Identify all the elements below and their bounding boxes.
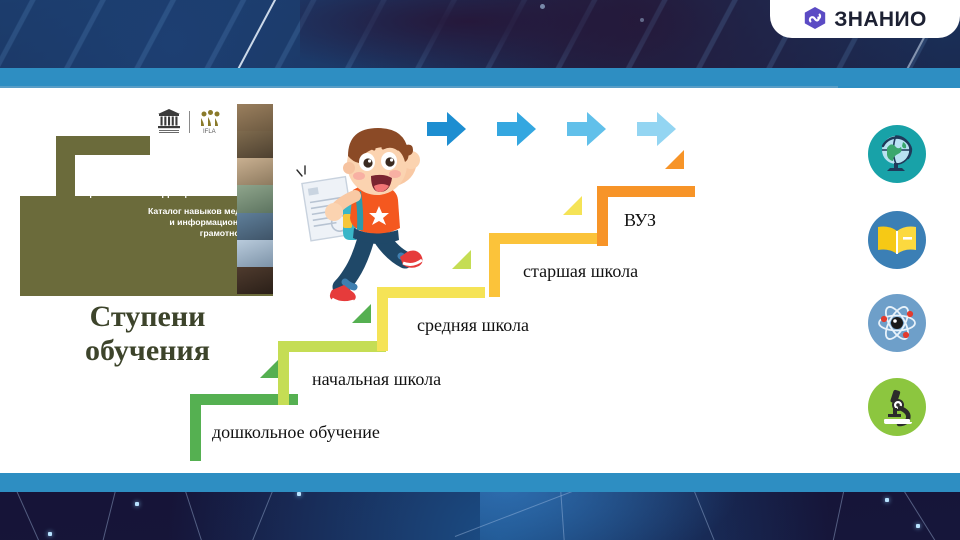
microscope-icon <box>876 386 918 428</box>
step-corner-triangle <box>563 196 582 215</box>
step-corner-triangle <box>452 250 471 269</box>
step-horizontal-bar <box>597 186 695 197</box>
step-vertical-bar <box>597 186 608 246</box>
step-vertical-bar <box>278 341 289 405</box>
subject-icon-atom[interactable] <box>868 294 926 352</box>
subject-icon-globe[interactable] <box>868 125 926 183</box>
step-label: дошкольное обучение <box>212 422 380 443</box>
open-book-icon <box>876 222 918 258</box>
atom-icon <box>875 301 919 345</box>
slide-root: ЗНАНИО <box>0 0 960 540</box>
brand-name: ЗНАНИО <box>834 9 926 30</box>
background-dot <box>540 4 545 9</box>
step-corner-triangle <box>260 359 279 378</box>
footer-blue-band <box>0 473 960 492</box>
step-label: начальная школа <box>312 369 441 390</box>
znanio-swirl-icon <box>803 6 827 30</box>
step-label: ВУЗ <box>624 210 656 231</box>
globe-icon <box>875 132 919 176</box>
background-dot <box>640 18 644 22</box>
step-horizontal-bar <box>489 233 597 244</box>
step-corner-triangle <box>665 150 684 169</box>
step-label: средняя школа <box>417 315 529 336</box>
step-horizontal-bar <box>278 341 386 352</box>
background-top-dark-blob <box>300 0 720 72</box>
brand-logo[interactable]: ЗНАНИО <box>770 0 960 38</box>
staircase-diagram: дошкольное обучениеначальная школасредня… <box>0 88 960 473</box>
step-label: старшая школа <box>523 261 638 282</box>
subject-icon-microscope[interactable] <box>868 378 926 436</box>
subject-icon-book[interactable] <box>868 211 926 269</box>
boy-with-certificate-illustration <box>291 122 439 317</box>
step-vertical-bar <box>190 394 201 461</box>
header-blue-band <box>0 68 960 88</box>
step-vertical-bar <box>489 233 500 297</box>
